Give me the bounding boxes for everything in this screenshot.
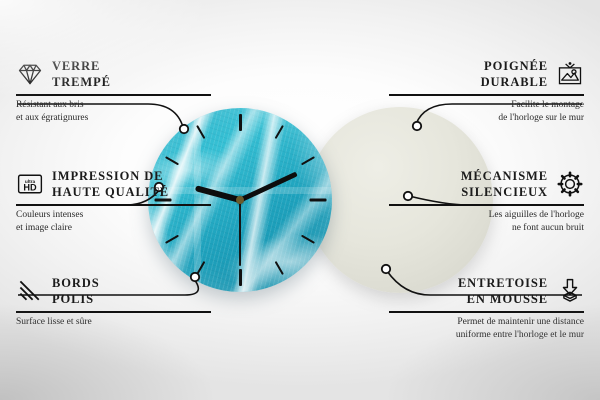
feature-divider (16, 311, 211, 313)
hanging-frame-icon (556, 60, 584, 88)
feature-divider (389, 311, 584, 313)
feature-title: IMPRESSION DE HAUTE QUALITÉ (52, 168, 169, 200)
clock-tick (309, 199, 326, 202)
gear-icon (556, 170, 584, 198)
feature-mecanisme-silencieux: MÉCANISME SILENCIEUX Les aiguilles de l'… (389, 168, 584, 235)
feature-description: Facilite le montage de l'horloge sur le … (389, 99, 584, 125)
feature-divider (389, 94, 584, 96)
infographic-canvas: VERRE TREMPÉ Résistant aux bris et aux é… (0, 0, 600, 400)
feature-description: Les aiguilles de l'horloge ne font aucun… (389, 209, 584, 235)
feature-title: ENTRETOISE EN MOUSSE (458, 275, 548, 307)
feature-title: MÉCANISME SILENCIEUX (461, 168, 548, 200)
feature-description: Résistant aux bris et aux égratignures (16, 99, 211, 125)
feature-verre-trempe: VERRE TREMPÉ Résistant aux bris et aux é… (16, 58, 211, 125)
clock-tick (239, 269, 242, 286)
feature-description: Permet de maintenir une distance uniform… (389, 316, 584, 342)
diamond-icon (16, 60, 44, 88)
feature-title: VERRE TREMPÉ (52, 58, 111, 90)
svg-text:HD: HD (23, 182, 37, 192)
feature-divider (16, 94, 211, 96)
feature-description: Couleurs intenses et image claire (16, 209, 211, 235)
feature-divider (389, 204, 584, 206)
feature-title: BORDS POLIS (52, 275, 100, 307)
feature-impression-haute-qualite: ultra HD IMPRESSION DE HAUTE QUALITÉ Cou… (16, 168, 211, 235)
polished-edge-icon (16, 277, 44, 305)
feature-entretoise-en-mousse: ENTRETOISE EN MOUSSE Permet de maintenir… (389, 275, 584, 342)
feature-bords-polis: BORDS POLIS Surface lisse et sûre (16, 275, 211, 329)
feature-divider (16, 204, 211, 206)
clock-second-hand (239, 200, 241, 266)
arrow-into-pad-icon (556, 277, 584, 305)
ultra-hd-icon: ultra HD (16, 170, 44, 198)
clock-center-cap (236, 196, 244, 204)
feature-title: POIGNÉE DURABLE (481, 58, 548, 90)
feature-description: Surface lisse et sûre (16, 316, 211, 329)
clock-tick (239, 114, 242, 131)
feature-poignee-durable: POIGNÉE DURABLE Facilite le montage de l… (389, 58, 584, 125)
